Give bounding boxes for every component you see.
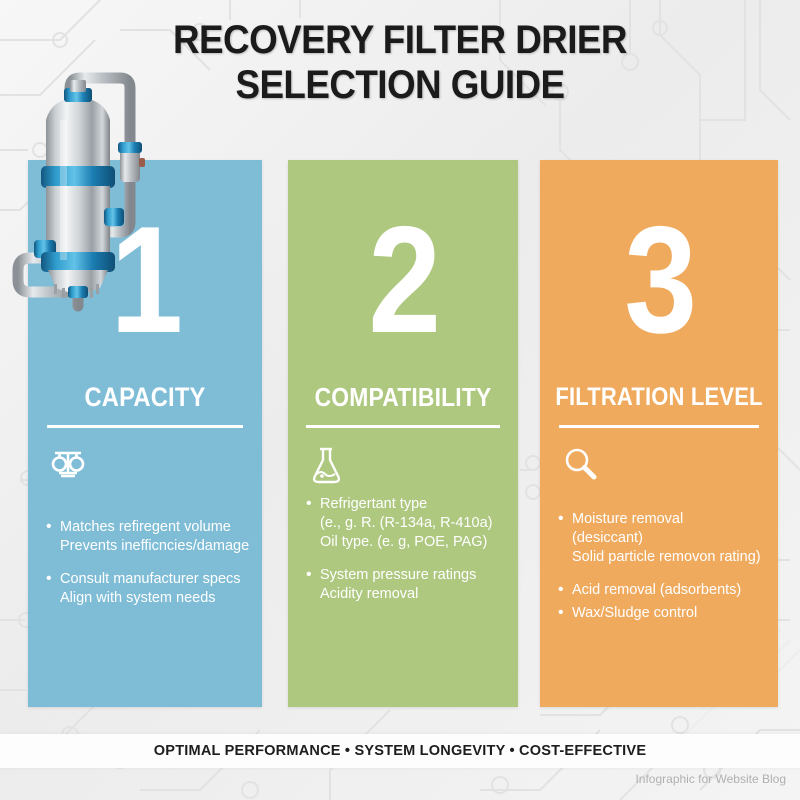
heading-divider: [47, 425, 243, 428]
list-item: Refrigertant type (e., g. R. (R-134a, R-…: [306, 495, 518, 552]
infographic-canvas: RECOVERY FILTER DRIER SELECTION GUIDE: [0, 0, 800, 800]
card-filtration-level[interactable]: 3 FILTRATION LEVEL Moisture removal (des…: [540, 160, 778, 707]
bullet-line: Refrigertant type: [320, 495, 518, 514]
card-heading-compatibility: COMPATIBILITY: [302, 382, 504, 412]
magnifier-icon: [560, 444, 778, 488]
card-bullets-capacity: Matches refiregent volume Prevents ineff…: [28, 518, 262, 608]
heading-divider: [559, 425, 759, 428]
title-line-1: RECOVERY FILTER DRIER: [32, 18, 768, 63]
bullet-line: Acidity removal: [320, 585, 518, 604]
card-number-2: 2: [304, 160, 502, 356]
bullet-line: Acid removal (adsorbents): [572, 581, 778, 600]
list-item: System pressure ratings Acidity removal: [306, 566, 518, 604]
card-heading-capacity: CAPACITY: [42, 382, 248, 412]
bullet-line: Wax/Sludge control: [572, 604, 778, 623]
bullet-line: System pressure ratings: [320, 566, 518, 585]
bullet-line: Moisture removal: [572, 510, 778, 529]
bullet-line: Matches refiregent volume: [60, 518, 262, 537]
list-item: Matches refiregent volume Prevents ineff…: [46, 518, 262, 556]
bullet-line: Prevents inefficncies/damage: [60, 537, 262, 556]
heading-divider: [306, 425, 500, 428]
card-bullets-filtration-level: Moisture removal (desiccant) Solid parti…: [540, 510, 778, 623]
flask-icon: [308, 444, 518, 488]
footer-banner: OPTIMAL PERFORMANCE • SYSTEM LONGEVITY •…: [0, 734, 800, 768]
bullet-line: Oil type. (e. g, POE, PAG): [320, 533, 518, 552]
list-item: Wax/Sludge control: [558, 604, 778, 623]
bullet-line: Align with system needs: [60, 589, 262, 608]
card-compatibility[interactable]: 2 COMPATIBILITY Refrigertant type (e., g…: [288, 160, 518, 707]
card-number-3: 3: [557, 160, 762, 356]
bullet-line: Solid particle removon rating): [572, 548, 778, 567]
list-item: Moisture removal (desiccant) Solid parti…: [558, 510, 778, 567]
list-item: Acid removal (adsorbents): [558, 581, 778, 600]
card-bullets-compatibility: Refrigertant type (e., g. R. (R-134a, R-…: [288, 495, 518, 604]
list-item: Consult manufacturer specs Align with sy…: [46, 570, 262, 608]
bullet-line: (e., g. R. (R-134a, R-410a): [320, 514, 518, 533]
bullet-line: Consult manufacturer specs: [60, 570, 262, 589]
bullet-line: (desiccant): [572, 529, 778, 548]
footer-tagline: OPTIMAL PERFORMANCE • SYSTEM LONGEVITY •…: [12, 734, 788, 768]
balance-scale-icon: [48, 444, 262, 488]
card-heading-filtration-level: FILTRATION LEVEL: [554, 382, 763, 412]
filter-drier-product-image: [8, 62, 158, 312]
credit-label: Infographic for Website Blog: [635, 772, 786, 786]
